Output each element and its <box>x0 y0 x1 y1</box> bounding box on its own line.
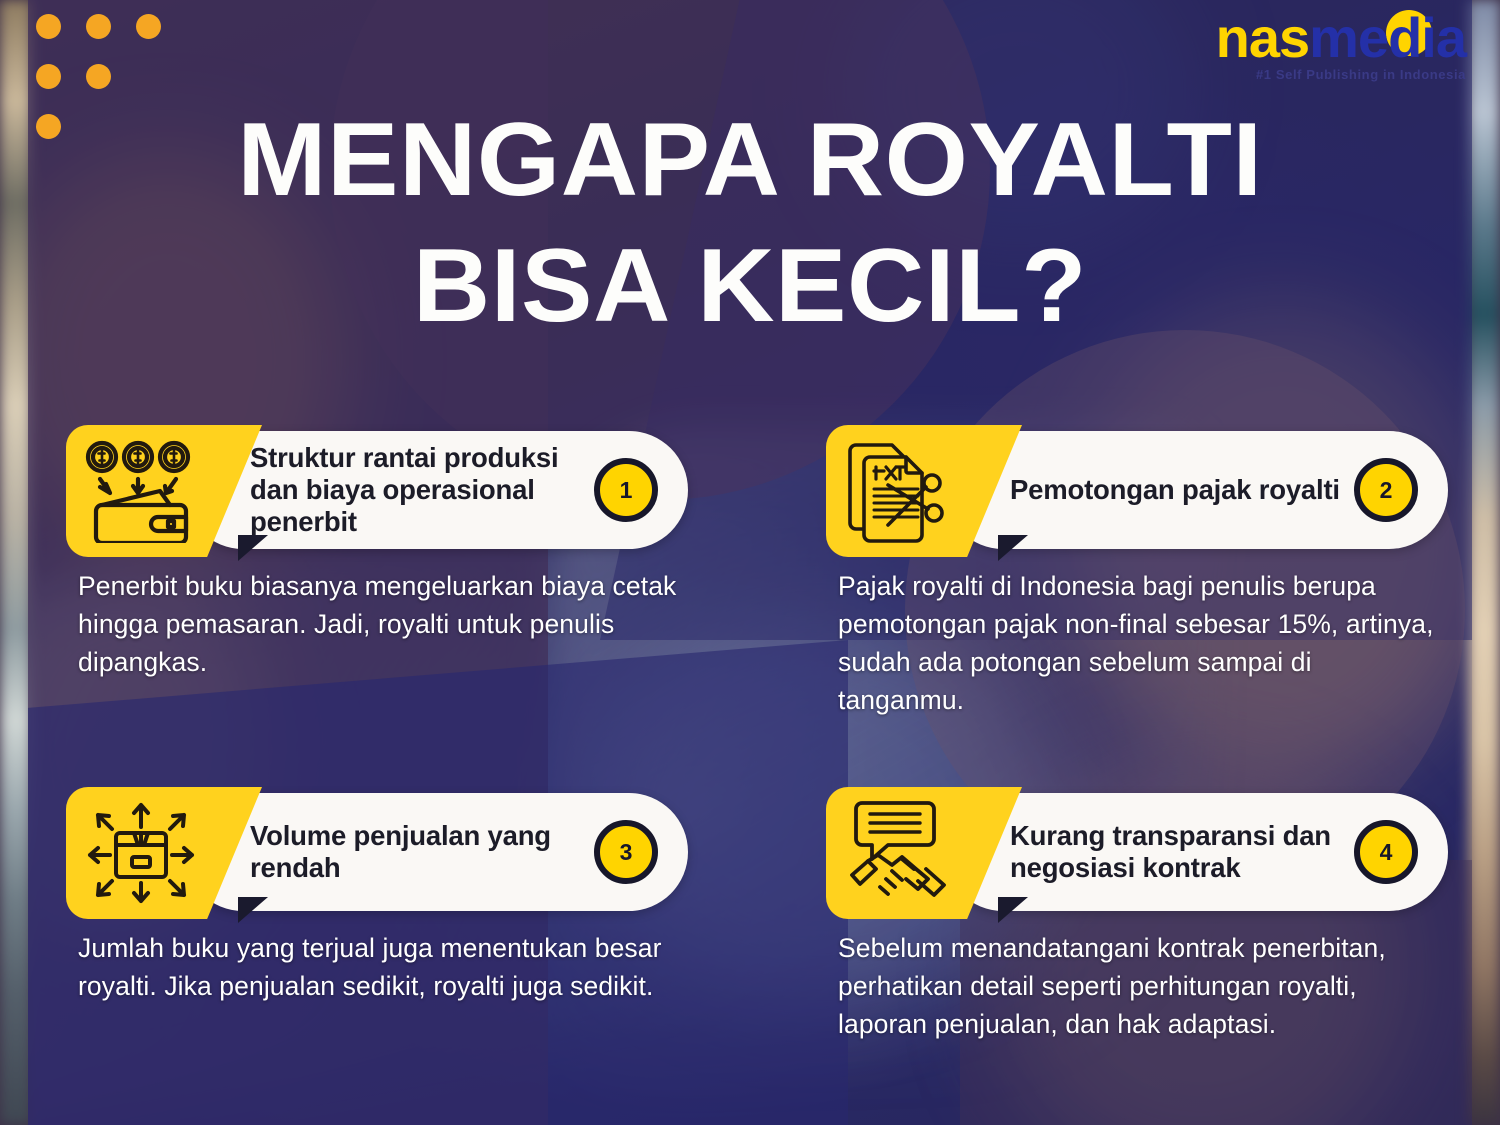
card-notch <box>998 897 1028 923</box>
card-header: Kurang transparansi dan negosiasi kontra… <box>826 787 1448 919</box>
coins-into-wallet-icon <box>80 439 204 543</box>
page-title: MENGAPA ROYALTI BISA KECIL? <box>0 108 1500 338</box>
dot <box>86 14 111 39</box>
dot <box>136 14 161 39</box>
card-body-text: Jumlah buku yang terjual juga menentukan… <box>66 929 678 1005</box>
card-body-text: Pajak royalti di Indonesia bagi penulis … <box>826 567 1438 720</box>
card-heading-text: Pemotongan pajak royalti <box>944 474 1354 506</box>
reason-card: Struktur rantai produksi dan biaya opera… <box>66 425 688 681</box>
card-body-text: Penerbit buku biasanya mengeluarkan biay… <box>66 567 678 681</box>
logo-media-text: media <box>1309 6 1466 69</box>
tax-document-scissors-icon <box>840 437 958 545</box>
reason-card: Kurang transparansi dan negosiasi kontra… <box>826 787 1448 1043</box>
brand-logo: nasmedia #1 Self Publishing in Indonesia <box>1216 10 1472 81</box>
dot <box>86 64 111 89</box>
speech-bubble-handshake-icon <box>840 797 962 909</box>
card-number-badge: 1 <box>594 458 658 522</box>
card-heading-pill: Struktur rantai produksi dan biaya opera… <box>184 431 688 549</box>
title-line-2: BISA KECIL? <box>0 234 1500 338</box>
dot <box>36 14 61 39</box>
logo-tagline: #1 Self Publishing in Indonesia <box>1216 68 1466 81</box>
card-header: Volume penjualan yang rendah 3 <box>66 787 688 919</box>
card-heading-pill: Pemotongan pajak royalti 2 <box>944 431 1448 549</box>
logo-nas-text: nas <box>1216 6 1310 69</box>
card-heading-pill: Kurang transparansi dan negosiasi kontra… <box>944 793 1448 911</box>
reason-card: Volume penjualan yang rendah 3 <box>66 787 688 1005</box>
card-number-badge: 3 <box>594 820 658 884</box>
card-number-badge: 4 <box>1354 820 1418 884</box>
dot <box>36 64 61 89</box>
card-notch <box>238 897 268 923</box>
logo-wordmark: nasmedia <box>1216 10 1466 66</box>
card-heading-text: Volume penjualan yang rendah <box>184 820 594 884</box>
card-body-text: Sebelum menandatangani kontrak penerbita… <box>826 929 1438 1043</box>
card-heading-pill: Volume penjualan yang rendah 3 <box>184 793 688 911</box>
reason-card: Pemotongan pajak royalti 2 Pajak royalti… <box>826 425 1448 720</box>
card-heading-text: Kurang transparansi dan negosiasi kontra… <box>944 820 1354 884</box>
card-notch <box>998 535 1028 561</box>
card-header: Pemotongan pajak royalti 2 <box>826 425 1448 557</box>
title-line-1: MENGAPA ROYALTI <box>0 108 1500 212</box>
card-number-badge: 2 <box>1354 458 1418 522</box>
infographic-poster: nasmedia #1 Self Publishing in Indonesia… <box>0 0 1500 1125</box>
box-distribution-arrows-icon <box>80 797 202 909</box>
card-notch <box>238 535 268 561</box>
card-header: Struktur rantai produksi dan biaya opera… <box>66 425 688 557</box>
